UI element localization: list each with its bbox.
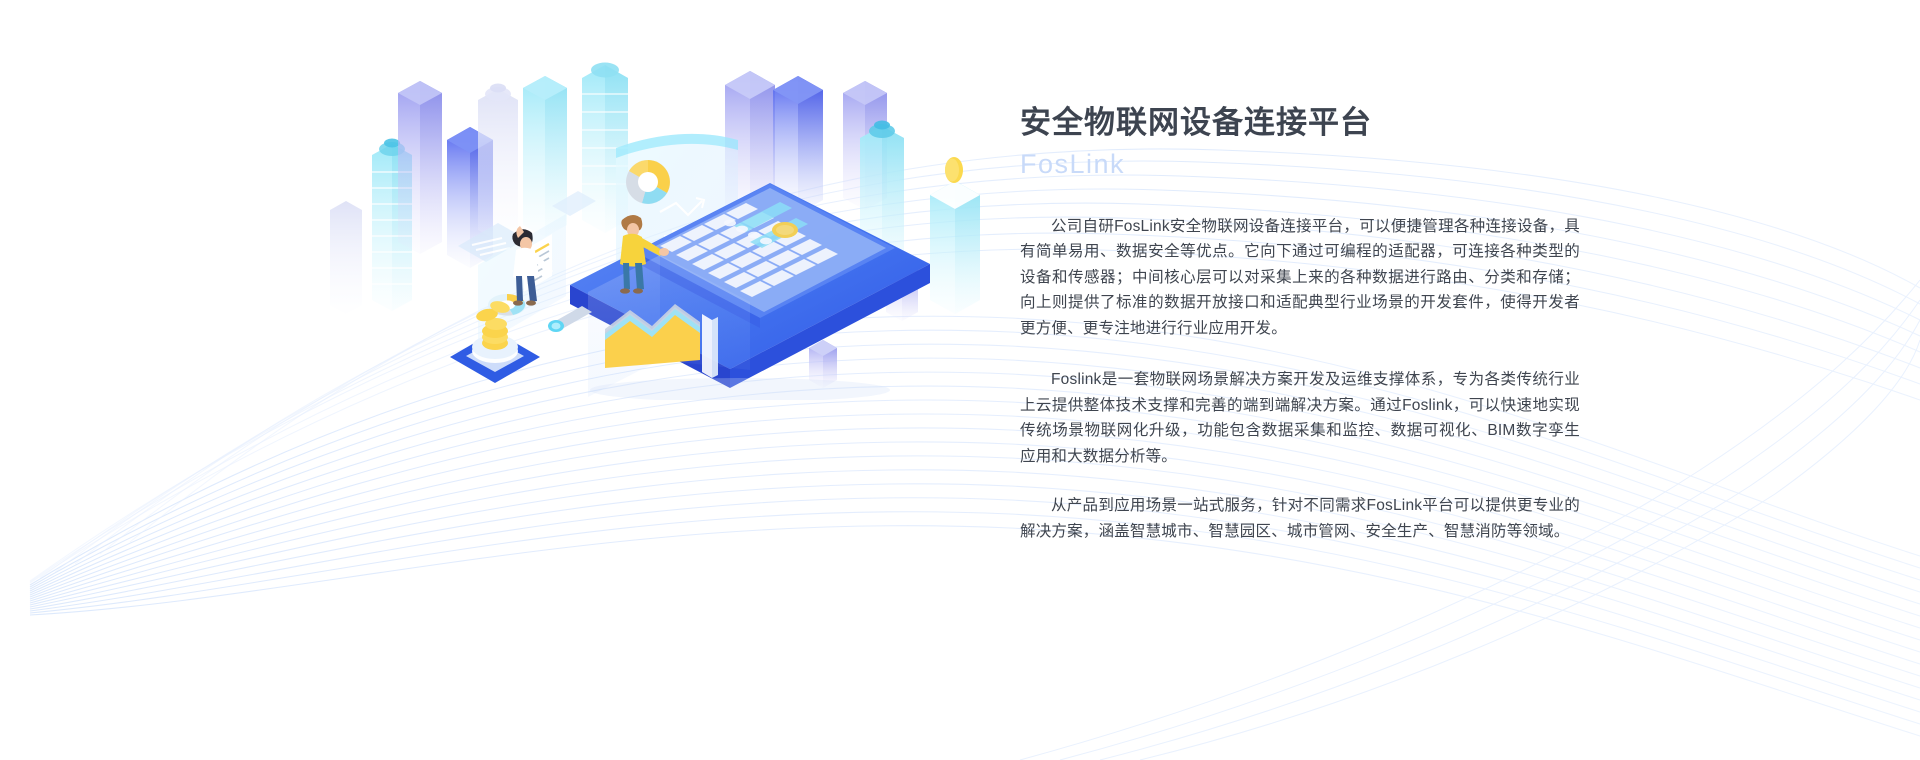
body-paragraph-2: Foslink是一套物联网场景解决方案开发及运维支撑体系，专为各类传统行业上云提… <box>1020 367 1580 469</box>
building-purple-tall <box>398 81 442 254</box>
isometric-iot-city-illustration <box>330 60 990 400</box>
page-title: 安全物联网设备连接平台 <box>1020 104 1580 143</box>
body-paragraph-1: 公司自研FosLink安全物联网设备连接平台，可以便捷管理各种连接设备，具有简单… <box>1020 214 1580 342</box>
body-paragraph-3: 从产品到应用场景一站式服务，针对不同需求FosLink平台可以提供更专业的解决方… <box>1020 493 1580 544</box>
page-root: 安全物联网设备连接平台 FosLink 公司自研FosLink安全物联网设备连接… <box>0 0 1920 760</box>
donut-chart-main <box>626 160 670 204</box>
page-subtitle: FosLink <box>1020 147 1580 182</box>
building-pale-left <box>330 201 362 314</box>
building-cyan-box <box>523 76 567 237</box>
cyan-pipe <box>548 306 592 332</box>
building-pale-round <box>478 84 518 242</box>
coin-pillar <box>930 157 980 314</box>
text-column: 安全物联网设备连接平台 FosLink 公司自研FosLink安全物联网设备连接… <box>1020 104 1580 544</box>
